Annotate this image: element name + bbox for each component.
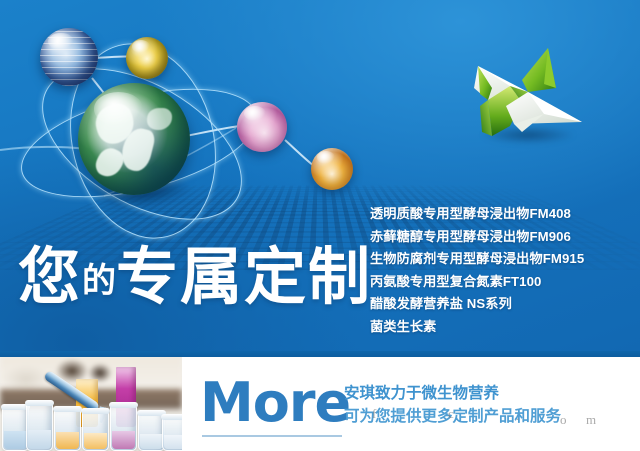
glass-vial xyxy=(26,401,53,451)
glass-vial xyxy=(2,405,29,451)
gold-sphere-icon xyxy=(126,37,168,79)
headline-part2: 专属定制 xyxy=(116,243,372,312)
more-underline xyxy=(202,435,342,437)
more-label: More xyxy=(200,376,350,430)
product-item: 醋酸发酵营养盐 NS系列 xyxy=(370,293,636,316)
product-item: 透明质酸专用型酵母浸出物FM408 xyxy=(370,203,636,226)
tagline: 安琪致力于微生物营养 可为您提供更多定制产品和服务 xyxy=(344,382,634,428)
product-item: 丙氨酸专用型复合氮素FT100 xyxy=(370,271,636,294)
glass-vial xyxy=(110,403,137,451)
vial-rim xyxy=(109,402,138,408)
product-item: 菌类生长素 xyxy=(370,316,636,339)
vial-fill xyxy=(140,434,163,449)
vial-rim xyxy=(53,406,82,412)
glass-vial xyxy=(54,407,81,451)
product-list: 透明质酸专用型酵母浸出物FM408 赤藓糖醇专用型酵母浸出物FM906 生物防腐… xyxy=(370,203,636,339)
vial-fill xyxy=(112,431,135,449)
violet-glass-sphere-icon xyxy=(237,102,287,152)
vial-rim xyxy=(25,400,54,406)
amber-glass-sphere-icon xyxy=(311,148,353,190)
earth-globe-icon xyxy=(78,83,190,195)
product-item: 赤藓糖醇专用型酵母浸出物FM906 xyxy=(370,226,636,249)
vial-fill xyxy=(4,431,27,449)
hero-section: 您的专属定制 透明质酸专用型酵母浸出物FM408 赤藓糖醇专用型酵母浸出物FM9… xyxy=(0,0,640,357)
vial-rim xyxy=(161,414,182,420)
vial-fill xyxy=(56,432,79,449)
landmass xyxy=(147,108,172,130)
vial-fill xyxy=(28,430,51,449)
banner-image: 您的专属定制 透明质酸专用型酵母浸出物FM408 赤藓糖醇专用型酵母浸出物FM9… xyxy=(0,0,640,451)
vial-rim xyxy=(81,408,110,414)
product-item: 生物防腐剂专用型酵母浸出物FM915 xyxy=(370,248,636,271)
glass-vial xyxy=(162,415,182,451)
origami-crane-icon xyxy=(452,40,592,152)
laboratory-photo xyxy=(0,357,182,451)
page-title: 您的专属定制 xyxy=(18,243,372,316)
headline-part1: 您 xyxy=(18,243,82,312)
wireframe-globe-icon xyxy=(40,28,98,86)
glass-vial xyxy=(82,409,109,451)
vial-fill xyxy=(164,435,182,449)
headline-part-small: 的 xyxy=(82,262,116,300)
tagline-line-2: 可为您提供更多定制产品和服务 xyxy=(344,405,634,428)
tagline-line-1: 安琪致力于微生物营养 xyxy=(344,382,634,405)
vial-fill xyxy=(84,433,107,449)
